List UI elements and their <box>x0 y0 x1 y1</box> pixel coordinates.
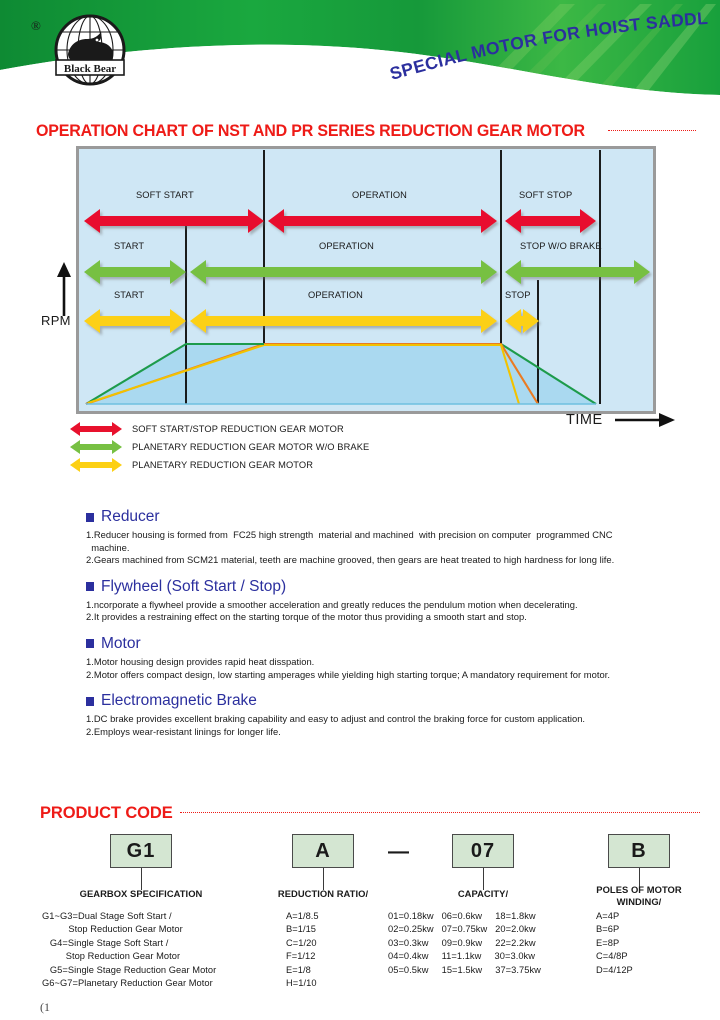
arrow-label-stop-yellow: STOP <box>505 290 531 300</box>
arrow-label-soft-start: SOFT START <box>136 190 194 200</box>
legend-arrow-red-icon <box>70 422 122 436</box>
feature-block-electromagnetic-brake: Electromagnetic Brake 1.DC brake provide… <box>86 692 700 738</box>
feature-line: 1.DC brake provides excellent braking ca… <box>86 713 700 726</box>
feature-line: 1.Reducer housing is formed from FC25 hi… <box>86 529 700 554</box>
product-code-title-text: PRODUCT CODE <box>40 804 173 823</box>
feature-heading: Motor <box>86 635 700 653</box>
code-box-ratio: A <box>292 834 354 868</box>
feature-heading-text: Reducer <box>101 508 160 526</box>
code-box-poles: B <box>608 834 670 868</box>
column-heading-poles: POLES OF MOTOR WINDING/ <box>578 884 700 907</box>
page-number: (1 <box>40 1000 50 1015</box>
column-body-ratio: A=1/8.5 B=1/15 C=1/20 F=1/12 E=1/8 H=1/1… <box>286 910 319 990</box>
company-logo: ® Black Bear <box>28 14 146 86</box>
chart-legend: SOFT START/STOP REDUCTION GEAR MOTOR PLA… <box>70 420 490 474</box>
leader-line <box>323 868 324 890</box>
arrow-label-stop-wo-brake: STOP W/O BRAKE <box>520 241 602 251</box>
logo-wordmark: Black Bear <box>64 63 116 75</box>
column-body-gearbox: G1~G3=Dual Stage Soft Start / Stop Reduc… <box>42 910 216 990</box>
chart-title-text: OPERATION CHART OF NST AND PR SERIES RED… <box>36 122 585 141</box>
legend-item: SOFT START/STOP REDUCTION GEAR MOTOR <box>70 420 490 437</box>
leader-line <box>483 868 484 890</box>
code-box-gearbox: G1 <box>110 834 172 868</box>
registered-mark: ® <box>31 18 41 33</box>
legend-item: PLANETARY REDUCTION GEAR MOTOR <box>70 456 490 473</box>
chart-arrow-row-green <box>84 260 650 284</box>
code-box-capacity: 07 <box>452 834 514 868</box>
legend-arrow-yellow-icon <box>70 458 122 472</box>
operation-chart: SOFT START OPERATION SOFT STOP START OPE… <box>76 146 656 414</box>
legend-label: PLANETARY REDUCTION GEAR MOTOR W/O BRAKE <box>132 442 369 452</box>
product-code-diagram: G1 A — 07 B <box>0 832 720 874</box>
feature-line: 2.Gears machined from SCM21 material, te… <box>86 554 700 567</box>
time-right-arrow-icon <box>615 413 675 427</box>
leader-line <box>141 868 142 890</box>
square-bullet-icon <box>86 639 94 648</box>
product-code-title: PRODUCT CODE <box>40 802 700 824</box>
arrow-label-operation-green: OPERATION <box>319 241 374 251</box>
chart-graphics <box>76 146 656 414</box>
column-heading-gearbox: GEARBOX SPECIFICATION <box>46 888 236 900</box>
feature-line: 2.Motor offers compact design, low start… <box>86 669 700 682</box>
legend-label: SOFT START/STOP REDUCTION GEAR MOTOR <box>132 424 344 434</box>
title-dotted-rule <box>608 130 696 131</box>
column-heading-ratio: REDUCTION RATIO/ <box>248 888 398 900</box>
column-body-capacity: 01=0.18kw 06=0.6kw 18=1.8kw 02=0.25kw 07… <box>388 910 541 977</box>
feature-line: 2.Employs wear-resistant linings for lon… <box>86 726 700 739</box>
feature-heading: Flywheel (Soft Start / Stop) <box>86 578 700 596</box>
feature-block-flywheel: Flywheel (Soft Start / Stop) 1.ncorporat… <box>86 578 700 624</box>
rpm-up-arrow-icon <box>56 262 72 318</box>
feature-line: 2.It provides a restraining effect on th… <box>86 611 700 624</box>
feature-heading: Electromagnetic Brake <box>86 692 700 710</box>
feature-block-motor: Motor 1.Motor housing design provides ra… <box>86 635 700 681</box>
arrow-label-operation-yellow: OPERATION <box>308 290 363 300</box>
arrow-label-start-yellow: START <box>114 290 144 300</box>
feature-heading-text: Flywheel (Soft Start / Stop) <box>101 578 286 596</box>
legend-item: PLANETARY REDUCTION GEAR MOTOR W/O BRAKE <box>70 438 490 455</box>
product-code-dotted-rule <box>180 812 700 813</box>
features-section: Reducer 1.Reducer housing is formed from… <box>86 508 700 749</box>
legend-arrow-green-icon <box>70 440 122 454</box>
legend-label: PLANETARY REDUCTION GEAR MOTOR <box>132 460 313 470</box>
feature-heading-text: Electromagnetic Brake <box>101 692 257 710</box>
square-bullet-icon <box>86 697 94 706</box>
arrow-label-start-green: START <box>114 241 144 251</box>
arrow-label-operation-red: OPERATION <box>352 190 407 200</box>
column-heading-capacity: CAPACITY/ <box>420 888 546 900</box>
chart-arrow-row-yellow <box>84 309 539 333</box>
feature-block-reducer: Reducer 1.Reducer housing is formed from… <box>86 508 700 567</box>
page-header: SPECIAL MOTOR FOR HOIST SADDLE ® Black B… <box>0 0 720 95</box>
square-bullet-icon <box>86 513 94 522</box>
chart-title: OPERATION CHART OF NST AND PR SERIES RED… <box>36 120 696 142</box>
square-bullet-icon <box>86 582 94 591</box>
feature-line: 1.ncorporate a flywheel provide a smooth… <box>86 599 700 612</box>
feature-heading-text: Motor <box>101 635 141 653</box>
chart-arrow-row-red <box>84 209 596 233</box>
arrow-label-soft-stop: SOFT STOP <box>519 190 572 200</box>
feature-line: 1.Motor housing design provides rapid he… <box>86 656 700 669</box>
x-axis-label: TIME <box>566 412 603 428</box>
feature-heading: Reducer <box>86 508 700 526</box>
column-body-poles: A=4P B=6P E=8P C=4/8P D=4/12P <box>596 910 633 977</box>
code-separator: — <box>388 840 409 864</box>
